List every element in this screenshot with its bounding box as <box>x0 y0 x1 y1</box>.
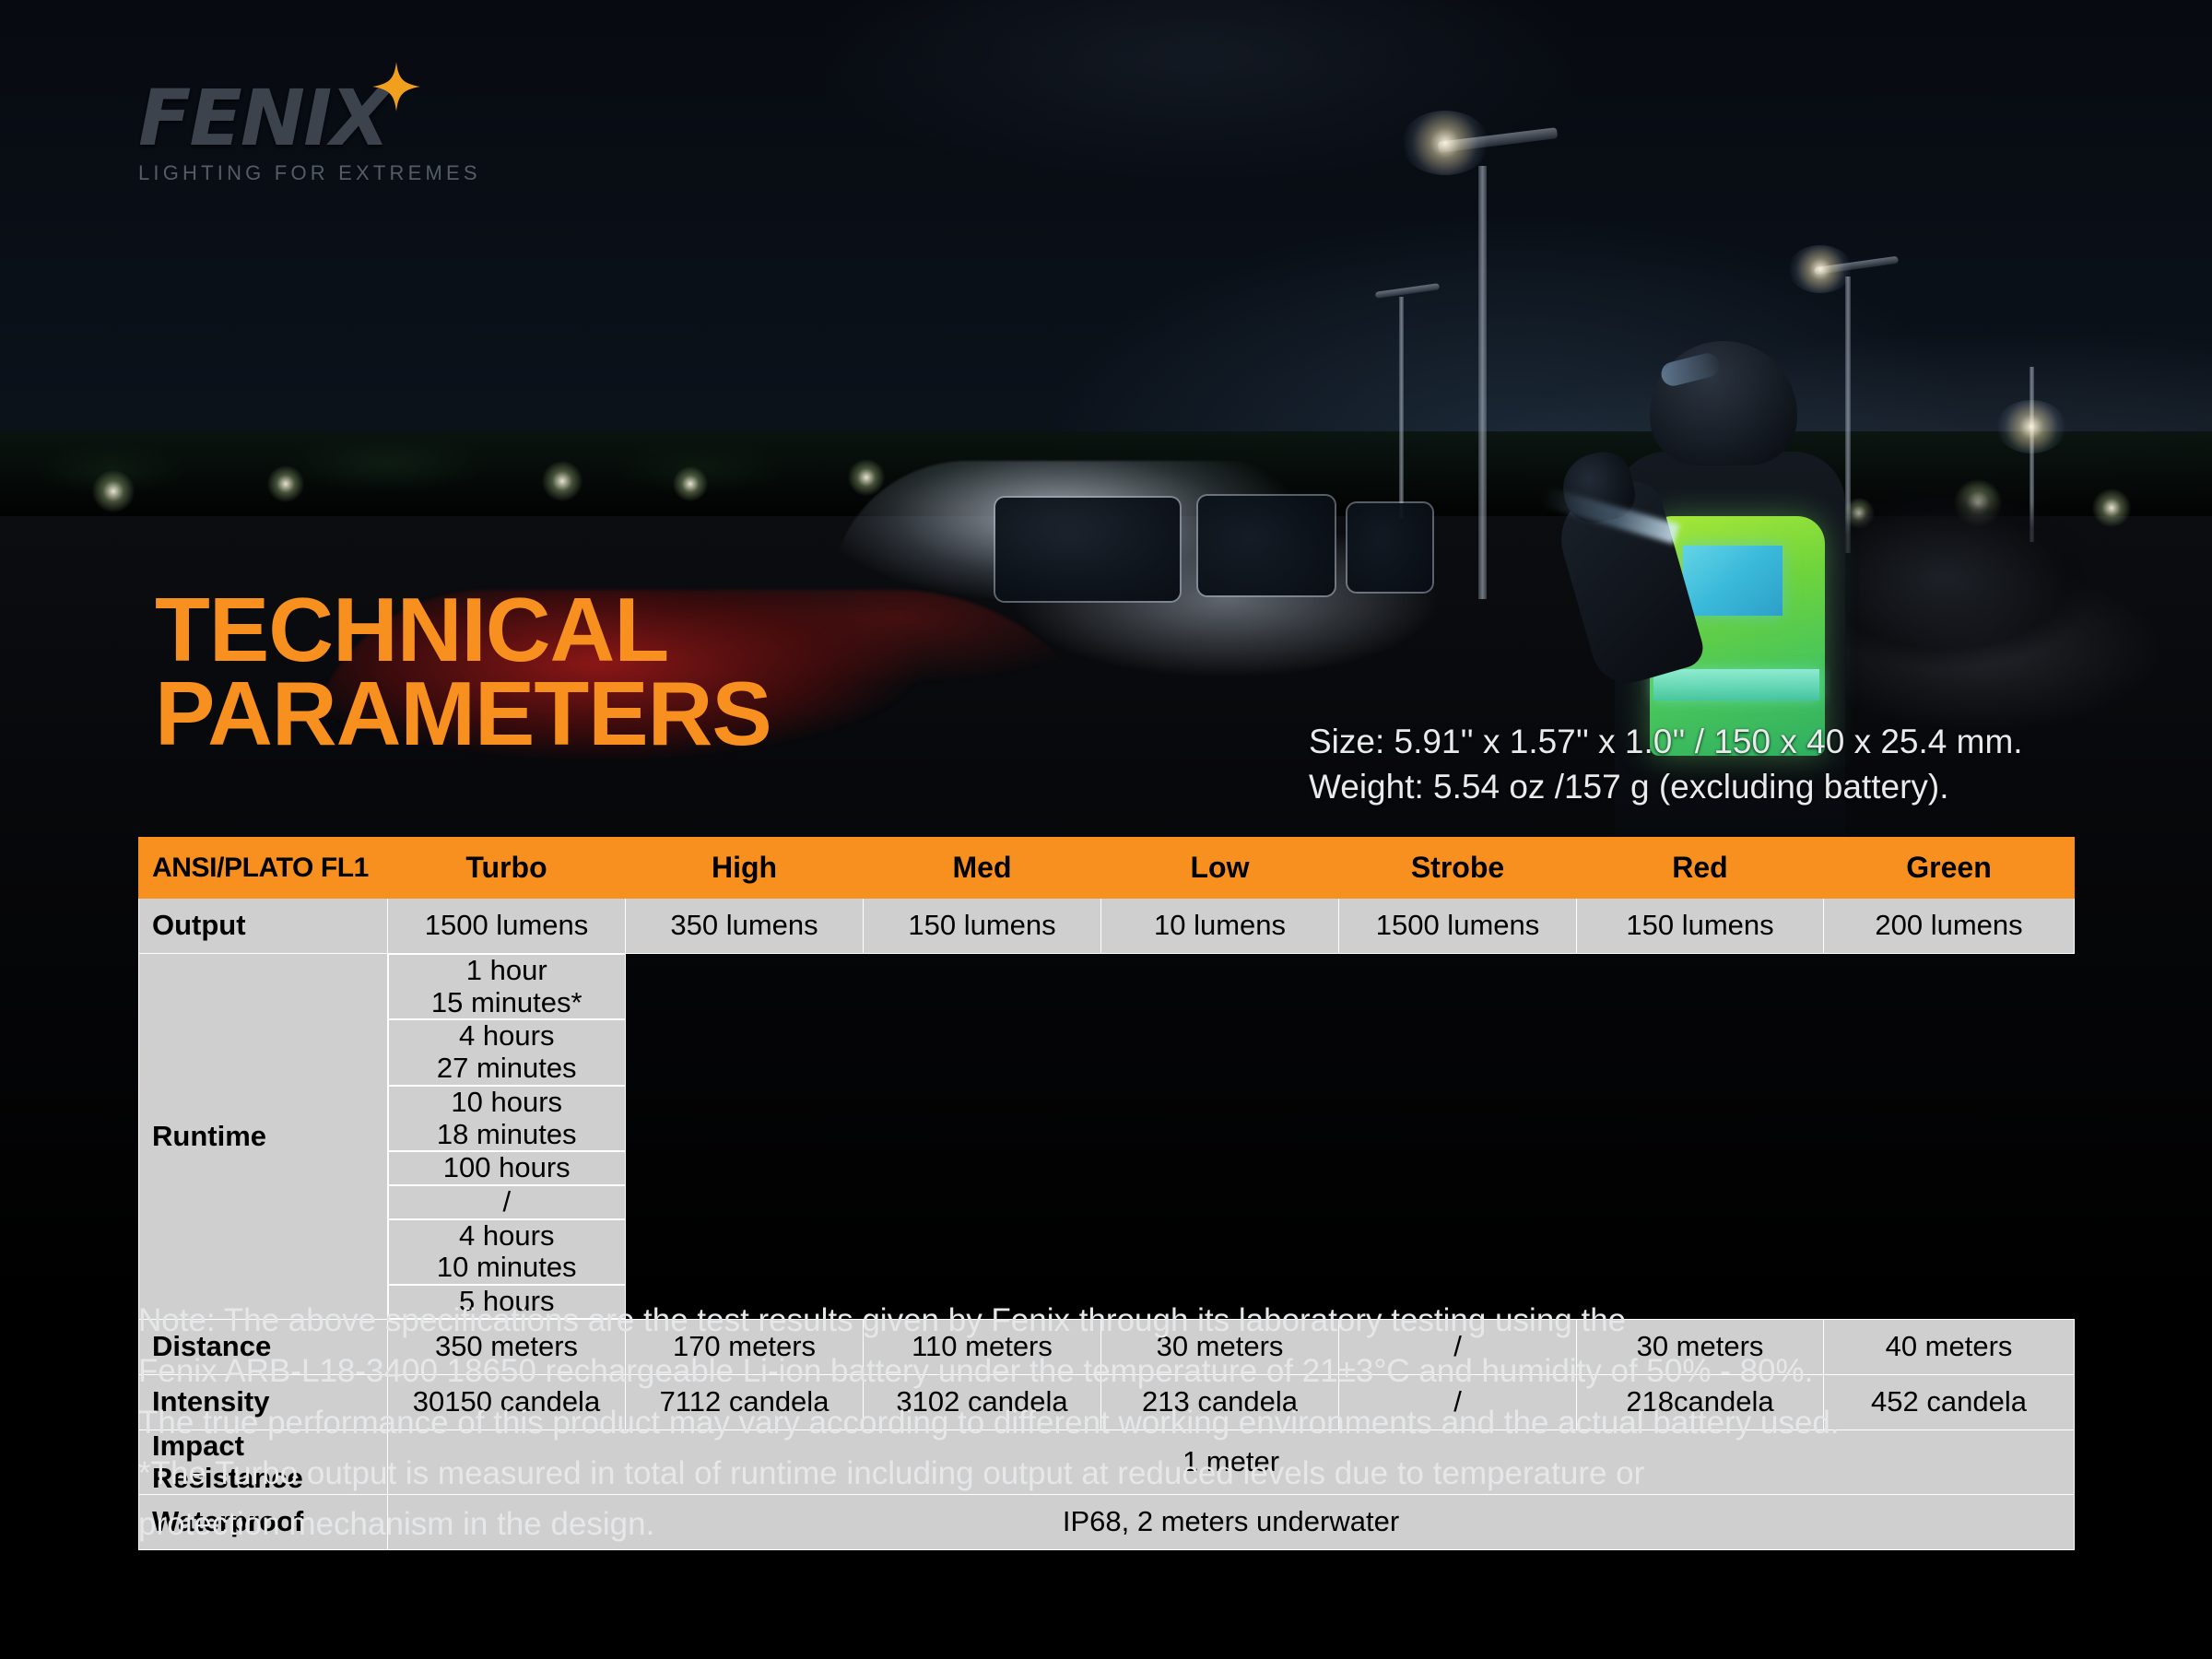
car-window <box>995 498 1180 601</box>
footnote-line-4: *The Turbo output is measured in total o… <box>138 1448 2111 1499</box>
technical-parameters-page: FENIX LIGHTING FOR EXTREMES TECHNICAL PA… <box>0 0 2212 1659</box>
fenix-logo-wordmark: FENIX <box>138 81 571 156</box>
page-title-line2: PARAMETERS <box>155 672 771 756</box>
star-icon <box>371 61 422 112</box>
footnotes-block: Note: The above specifications are the t… <box>138 1295 2111 1549</box>
officer-helmet <box>1650 341 1797 465</box>
cell-line: 4 hours <box>398 1020 616 1053</box>
size-text: Size: 5.91'' x 1.57'' x 1.0'' / 150 x 40… <box>1309 719 2023 764</box>
page-title-line1: TECHNICAL <box>155 588 771 672</box>
cell-output-high: 350 lumens <box>626 899 864 954</box>
table-header-cell-med: Med <box>864 838 1101 899</box>
row-label-output: Output <box>139 899 388 954</box>
street-lamp-glow <box>1788 245 1853 293</box>
table-row: Runtime 1 hour15 minutes* 4 hours27 minu… <box>139 954 2075 1320</box>
distant-light <box>267 465 304 502</box>
vest-reflective-panel <box>1683 546 1783 616</box>
cell-runtime-turbo: 1 hour15 minutes* <box>388 954 626 1019</box>
table-header-cell-high: High <box>626 838 864 899</box>
street-lamp-glow <box>1996 400 2066 453</box>
street-lamp-glow <box>1401 111 1489 175</box>
distant-light <box>92 470 135 512</box>
dimensions-block: Size: 5.91'' x 1.57'' x 1.0'' / 150 x 40… <box>1309 719 2023 809</box>
cell-line: 10 hours <box>398 1087 616 1119</box>
cell-line: 4 hours <box>398 1220 616 1253</box>
vest-reflective-stripe <box>1653 669 1819 700</box>
table-header-cell-turbo: Turbo <box>388 838 626 899</box>
cell-runtime-red: 4 hours10 minutes <box>388 1219 626 1285</box>
cell-line: 100 hours <box>398 1152 616 1184</box>
cell-line: 18 minutes <box>398 1119 616 1151</box>
footnote-line-5: protection mechanism in the design. <box>138 1499 2111 1549</box>
table-header-cell-green: Green <box>1824 838 2075 899</box>
cell-runtime-strobe: / <box>388 1185 626 1219</box>
cell-output-green: 200 lumens <box>1824 899 2075 954</box>
table-header: ANSI/PLATO FL1 Turbo High Med Low Strobe… <box>139 838 2075 899</box>
car-window <box>1198 496 1335 595</box>
cell-line: / <box>398 1186 616 1218</box>
fenix-logo-tagline: LIGHTING FOR EXTREMES <box>138 161 571 185</box>
cell-output-low: 10 lumens <box>1101 899 1339 954</box>
cell-line: 1 hour <box>398 955 616 987</box>
table-header-row: ANSI/PLATO FL1 Turbo High Med Low Strobe… <box>139 838 2075 899</box>
cell-output-med: 150 lumens <box>864 899 1101 954</box>
cell-line: 10 minutes <box>398 1252 616 1284</box>
table-header-cell-red: Red <box>1577 838 1824 899</box>
page-title: TECHNICAL PARAMETERS <box>155 588 771 756</box>
table-row: Output 1500 lumens 350 lumens 150 lumens… <box>139 899 2075 954</box>
table-header-cell-ansi-plato: ANSI/PLATO FL1 <box>139 838 388 899</box>
row-label-runtime: Runtime <box>139 954 388 1320</box>
cell-output-strobe: 1500 lumens <box>1339 899 1577 954</box>
footnote-line-3: The true performance of this product may… <box>138 1397 2111 1448</box>
table-header-cell-strobe: Strobe <box>1339 838 1577 899</box>
cell-line: 15 minutes* <box>398 987 616 1019</box>
cell-runtime-med: 10 hours18 minutes <box>388 1086 626 1151</box>
table-header-cell-low: Low <box>1101 838 1339 899</box>
cell-output-turbo: 1500 lumens <box>388 899 626 954</box>
car-window <box>1347 503 1432 592</box>
distant-light <box>542 461 582 501</box>
fenix-logo: FENIX LIGHTING FOR EXTREMES <box>138 81 571 185</box>
distant-light <box>848 459 885 496</box>
footnote-line-2: Fenix ARB-L18-3400 18650 rechargeable Li… <box>138 1346 2111 1396</box>
cell-runtime-high: 4 hours27 minutes <box>388 1019 626 1085</box>
distant-light <box>673 466 708 501</box>
cell-line: 27 minutes <box>398 1053 616 1085</box>
cell-runtime-low: 100 hours <box>388 1151 626 1185</box>
footnote-line-1: Note: The above specifications are the t… <box>138 1295 2111 1346</box>
cell-output-red: 150 lumens <box>1577 899 1824 954</box>
weight-text: Weight: 5.54 oz /157 g (excluding batter… <box>1309 764 2023 809</box>
